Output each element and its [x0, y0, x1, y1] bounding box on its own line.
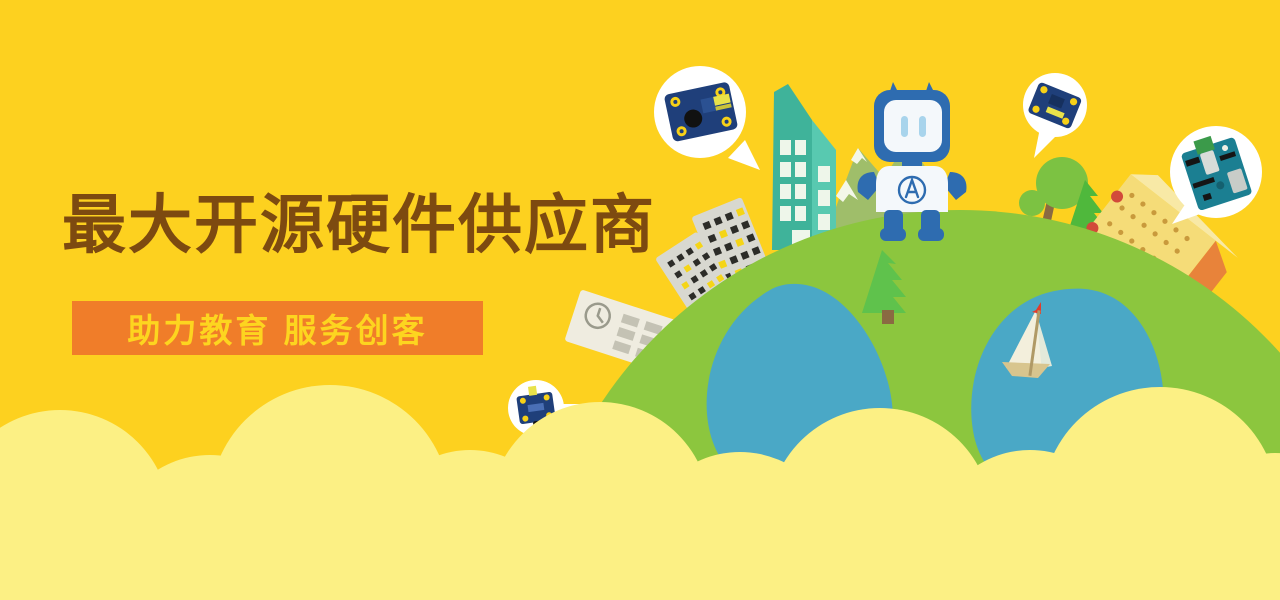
- robot-face: [884, 100, 942, 152]
- robot-foot-left: [880, 228, 906, 241]
- tagline-badge-label: 助力教育 服务创客: [72, 301, 483, 355]
- robot-foot-right: [918, 228, 944, 241]
- robot-eye-right: [919, 116, 926, 137]
- robot-shirt: [876, 166, 948, 212]
- banner-illustration: [0, 0, 1280, 600]
- robot-eye-left: [901, 116, 908, 137]
- page-title: 最大开源硬件供应商: [62, 189, 656, 261]
- tagline-badge[interactable]: 助力教育 服务创客: [72, 301, 483, 355]
- promo-banner: 最大开源硬件供应商 助力教育 服务创客: [0, 0, 1280, 600]
